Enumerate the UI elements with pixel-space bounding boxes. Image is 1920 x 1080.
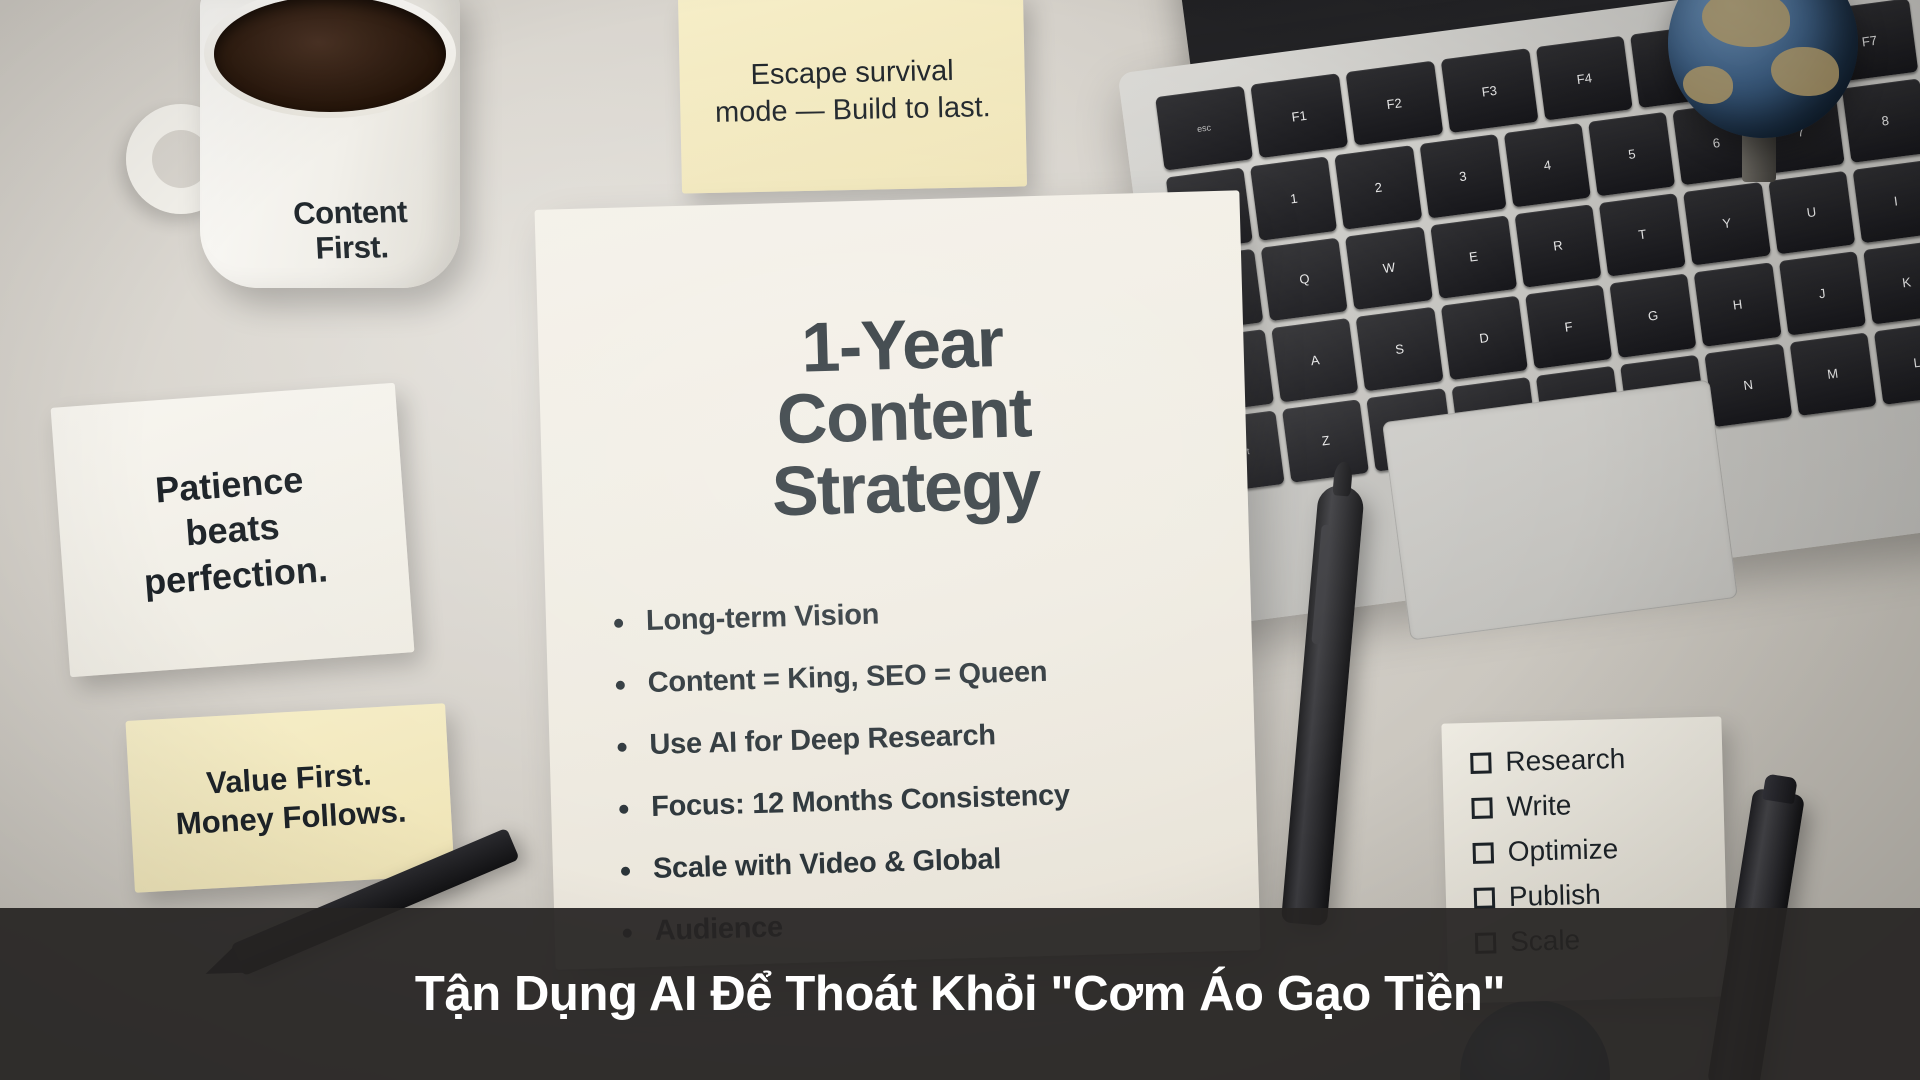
checklist-item-label: Write: [1506, 789, 1572, 823]
sticky-note-escape: Escape survival mode — Build to last.: [678, 0, 1027, 194]
strategy-bullet-list: Long-term VisionContent = King, SEO = Qu…: [608, 589, 1220, 949]
keyboard-key[interactable]: L: [1874, 321, 1920, 405]
note-escape-line2: mode — Build to last.: [715, 89, 991, 131]
pen-clip: [1311, 524, 1331, 644]
coffee-surface: [214, 0, 446, 112]
checklist-item[interactable]: Research: [1470, 740, 1723, 779]
strategy-bullet-item: Focus: 12 Months Consistency: [613, 775, 1217, 825]
strategy-bullet-item: Content = King, SEO = Queen: [609, 651, 1213, 701]
keyboard-key[interactable]: 3: [1419, 134, 1506, 218]
checklist-item[interactable]: Write: [1471, 785, 1724, 824]
strategy-bullet-item: Use AI for Deep Research: [611, 713, 1215, 763]
laptop-trackpad[interactable]: [1382, 379, 1738, 640]
keyboard-key[interactable]: 5: [1588, 112, 1675, 196]
keyboard-key[interactable]: Y: [1683, 182, 1770, 266]
keyboard-key[interactable]: Q: [1261, 237, 1348, 321]
sticky-note-patience: Patience beats perfection.: [51, 383, 415, 678]
keyboard-key[interactable]: E: [1430, 215, 1517, 299]
keyboard-key[interactable]: F: [1525, 285, 1612, 369]
keyboard-key[interactable]: K: [1863, 240, 1920, 324]
keyboard-key[interactable]: Z: [1282, 399, 1369, 483]
checklist-item[interactable]: Optimize: [1472, 830, 1725, 869]
strategy-paper: 1-Year Content Strategy Long-term Vision…: [535, 190, 1261, 969]
note-escape-line1: Escape survival: [714, 53, 990, 95]
keyboard-key[interactable]: I: [1852, 160, 1920, 244]
mug-label-line2: First.: [246, 229, 458, 267]
keyboard-key[interactable]: U: [1768, 171, 1855, 255]
mug-label: Content First.: [244, 194, 458, 267]
keyboard-key[interactable]: 4: [1504, 123, 1591, 207]
keyboard-key[interactable]: esc: [1155, 86, 1253, 171]
mug-label-line1: Content: [244, 194, 456, 232]
banner-headline: Tận Dụng AI Để Thoát Khỏi "Cơm Áo Gạo Ti…: [415, 966, 1505, 1022]
keyboard-key[interactable]: 2: [1335, 146, 1422, 230]
keyboard-key[interactable]: J: [1778, 251, 1865, 335]
checkbox-icon[interactable]: [1470, 752, 1492, 774]
checklist-item-label: Optimize: [1507, 833, 1618, 868]
page-title: 1-Year Content Strategy: [600, 301, 1209, 532]
keyboard-key[interactable]: G: [1609, 274, 1696, 358]
checkbox-icon[interactable]: [1474, 887, 1496, 909]
keyboard-key[interactable]: S: [1356, 307, 1443, 391]
keyboard-key[interactable]: F4: [1535, 36, 1633, 121]
keyboard-key[interactable]: W: [1345, 226, 1432, 310]
checkbox-icon[interactable]: [1473, 842, 1495, 864]
keyboard-key[interactable]: D: [1440, 296, 1527, 380]
keyboard-key[interactable]: A: [1272, 318, 1359, 402]
keyboard-key[interactable]: F1: [1250, 73, 1348, 158]
keyboard-key[interactable]: 1: [1250, 157, 1337, 241]
checkbox-icon[interactable]: [1471, 797, 1493, 819]
keyboard-key[interactable]: N: [1705, 343, 1792, 427]
keyboard-key[interactable]: F2: [1345, 61, 1443, 146]
keyboard-key[interactable]: H: [1694, 262, 1781, 346]
keyboard-key[interactable]: M: [1789, 332, 1876, 416]
checklist-item-label: Research: [1505, 743, 1626, 778]
sticky-note-value: Value First. Money Follows.: [125, 703, 454, 893]
keyboard-key[interactable]: F3: [1440, 48, 1538, 133]
keyboard-key[interactable]: 8: [1842, 79, 1920, 163]
keyboard-key[interactable]: R: [1514, 204, 1601, 288]
strategy-bullet-item: Long-term Vision: [608, 589, 1212, 639]
bottom-banner: Tận Dụng AI Để Thoát Khỏi "Cơm Áo Gạo Ti…: [0, 908, 1920, 1080]
strategy-bullet-item: Scale with Video & Global: [615, 837, 1219, 887]
keyboard-key[interactable]: T: [1599, 193, 1686, 277]
